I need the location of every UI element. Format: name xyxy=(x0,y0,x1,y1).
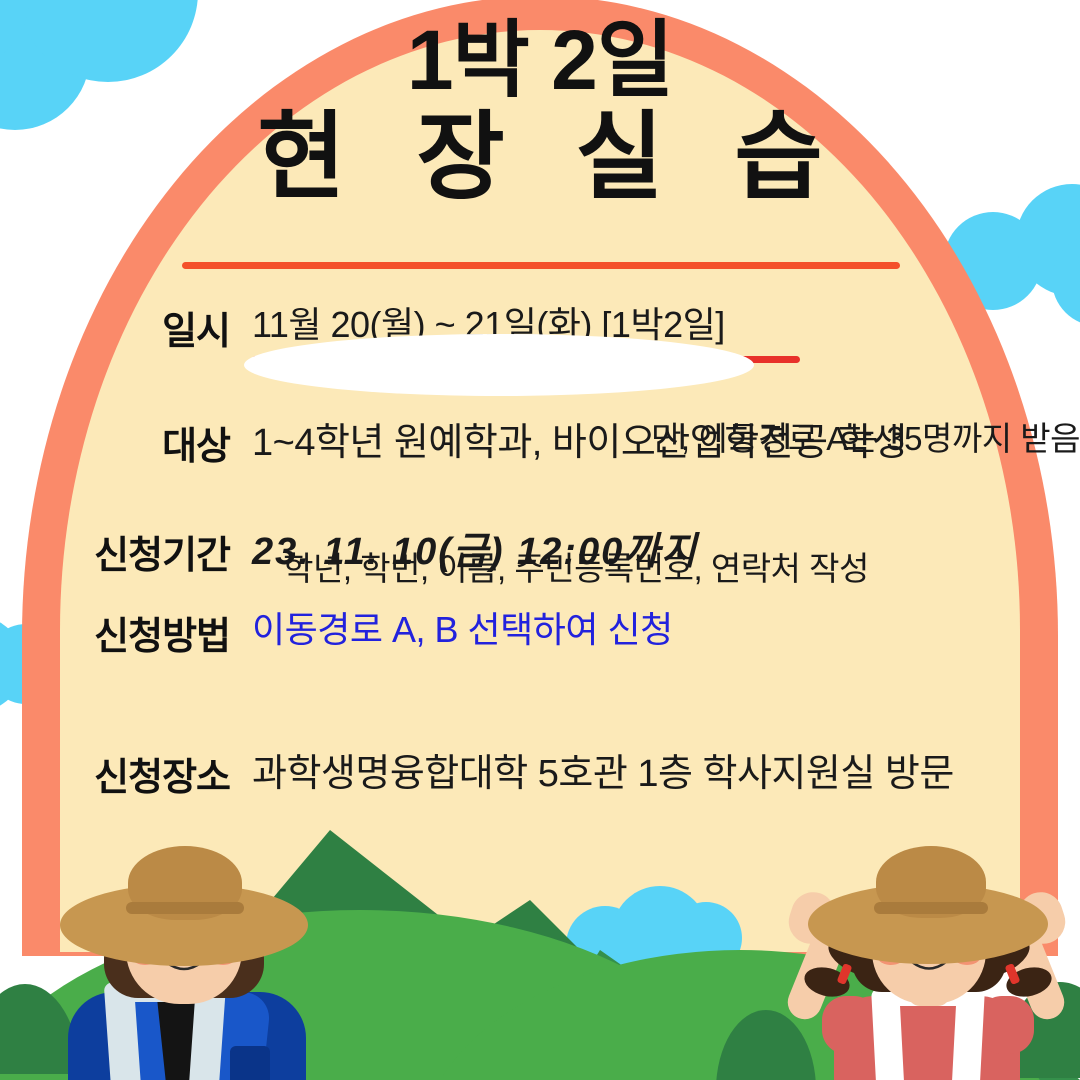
girl-hat-band xyxy=(874,902,988,914)
title-divider xyxy=(182,262,900,269)
boy-hat-band xyxy=(126,902,244,914)
label-place: 신청장소 xyxy=(0,742,230,801)
title-block: 1박 2일 현 장 실 습 xyxy=(0,18,1080,209)
info-row-place: 신청장소 과학생명융합대학 5호관 1층 학사지원실 방문 xyxy=(0,742,1080,801)
note-place: 학년, 학번, 이름, 주민등록번호, 연락처 작성 xyxy=(0,542,1080,590)
label-method: 신청방법 xyxy=(0,601,230,660)
value-method: 이동경로 A, B 선택하여 신청 xyxy=(252,609,673,650)
method-highlight xyxy=(244,334,754,396)
boy-pocket xyxy=(230,1046,270,1080)
girl-sleeve-left xyxy=(822,996,878,1054)
value-place: 과학생명융합대학 5호관 1층 학사지원실 방문 xyxy=(230,742,954,797)
title-line-2: 현 장 실 습 xyxy=(0,108,1080,209)
value-method-wrap: 이동경로 A, B 선택하여 신청 xyxy=(230,601,673,653)
girl-hairtie-left xyxy=(837,963,853,985)
label-date: 일시 xyxy=(0,296,230,355)
poster: 1박 2일 현 장 실 습 일시 11월 20(월) ~ 21일(화) [1박2… xyxy=(0,0,1080,1080)
info-row-method: 신청방법 이동경로 A, B 선택하여 신청 xyxy=(0,601,1080,660)
note-method: 단, 이동경로 A는 35명까지 받음 xyxy=(0,412,1080,460)
girl-sleeve-right xyxy=(978,996,1034,1054)
title-line-1: 1박 2일 xyxy=(0,18,1080,102)
character-girl-right xyxy=(768,856,1080,1080)
character-boy-left xyxy=(22,850,342,1080)
